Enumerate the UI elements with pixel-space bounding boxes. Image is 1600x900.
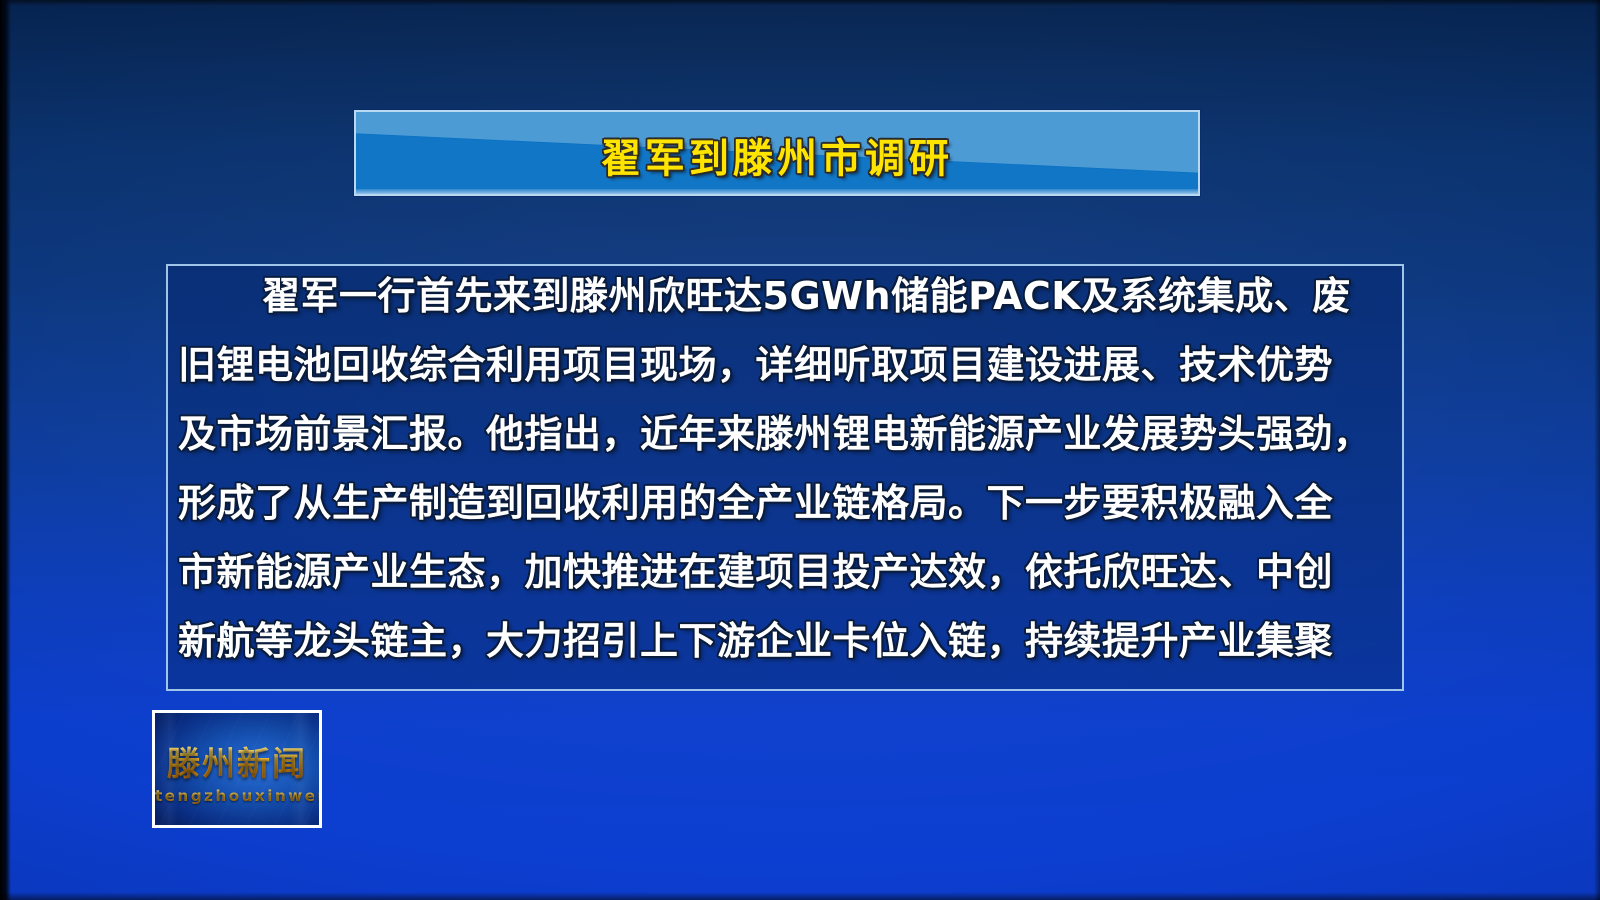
body-line: 翟军一行首先来到滕州欣旺达5GWh储能PACK及系统集成、废 — [178, 264, 1396, 331]
body-line: 及市场前景汇报。他指出，近年来滕州锂电新能源产业发展势头强劲， — [178, 400, 1396, 469]
channel-name-en: tengzhouxinwen — [155, 787, 319, 805]
title-banner: 翟军到滕州市调研 — [354, 110, 1200, 196]
channel-name-cn: 滕州新闻 — [155, 737, 319, 785]
body-line: 新航等龙头链主，大力招引上下游企业卡位入链，持续提升产业集聚 — [178, 607, 1396, 676]
top-edge-shade — [0, 0, 1600, 6]
subtitle-text-box: 翟军一行首先来到滕州欣旺达5GWh储能PACK及系统集成、废 旧锂电池回收综合利… — [166, 264, 1404, 691]
body-line: 市新能源产业生态，加快推进在建项目投产达效，依托欣旺达、中创 — [178, 538, 1396, 607]
body-line: 旧锂电池回收综合利用项目现场，详细听取项目建设进展、技术优势 — [178, 331, 1396, 400]
channel-logo: 滕州新闻 tengzhouxinwen — [152, 710, 322, 828]
right-edge-shade — [1594, 0, 1600, 900]
headline-title: 翟军到滕州市调研 — [356, 112, 1198, 196]
left-edge-letterbox — [0, 0, 11, 900]
bottom-edge-shade — [0, 892, 1600, 900]
body-line: 形成了从生产制造到回收利用的全产业链格局。下一步要积极融入全 — [178, 469, 1396, 538]
news-body-text: 翟军一行首先来到滕州欣旺达5GWh储能PACK及系统集成、废 旧锂电池回收综合利… — [178, 264, 1396, 676]
broadcast-screen: 翟军到滕州市调研 翟军一行首先来到滕州欣旺达5GWh储能PACK及系统集成、废 … — [0, 0, 1600, 900]
